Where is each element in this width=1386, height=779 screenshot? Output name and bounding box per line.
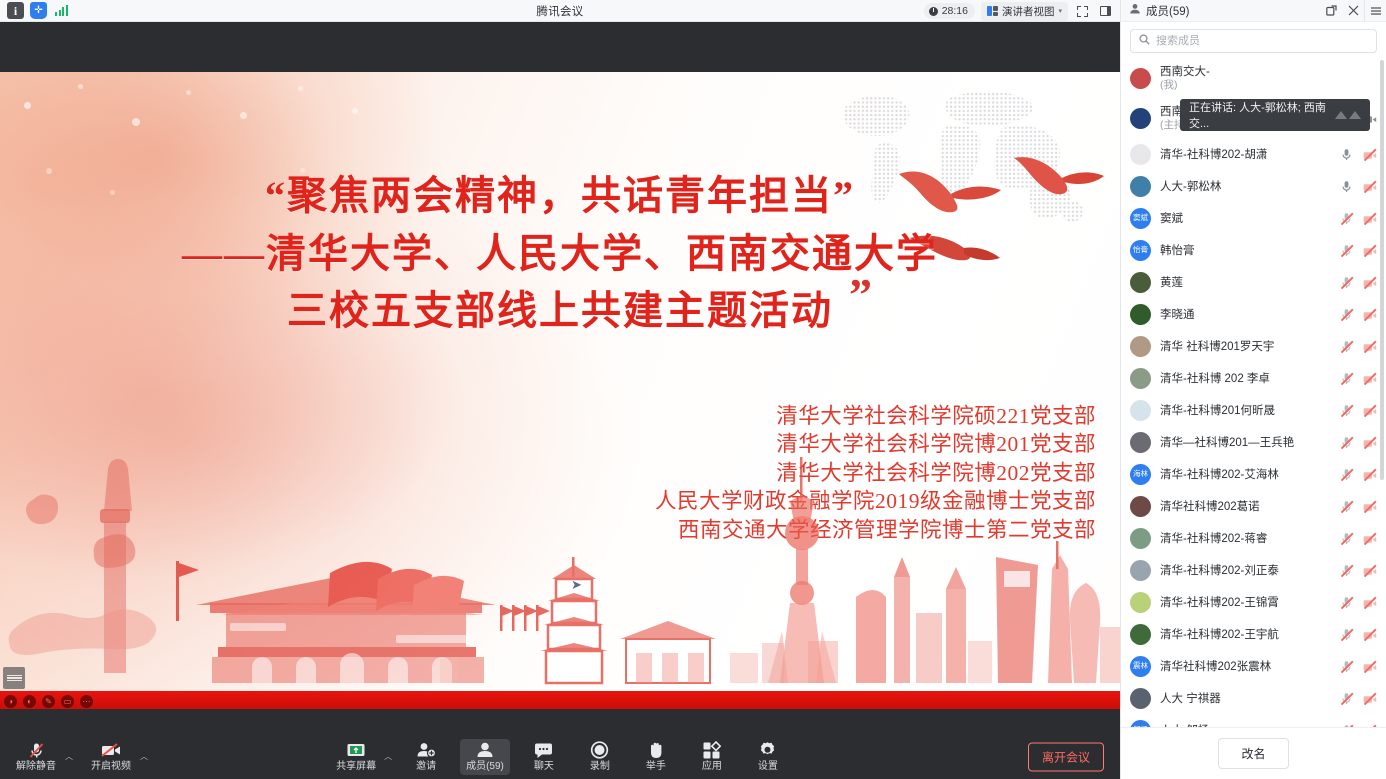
view-mode-label: 演讲者视图 (1002, 4, 1055, 19)
avatar (1130, 304, 1151, 325)
participants-icon (1129, 2, 1141, 20)
avatar: 邹杨 (1130, 720, 1151, 728)
expand-icon (1077, 6, 1088, 17)
list-item[interactable]: 人大-郭松林 (1121, 170, 1386, 202)
invite-user-icon (416, 741, 436, 760)
participant-name: 黄莲 (1160, 274, 1183, 290)
toolbar-center-group: 共享屏幕 ︿ 邀请 (0, 739, 1120, 775)
microphone-status-icon (1340, 468, 1353, 481)
participants-panel: 成员(59) (1120, 0, 1386, 779)
microphone-status-icon (1340, 148, 1353, 161)
list-item[interactable]: 李晓通 (1121, 298, 1386, 330)
share-screen-label: 共享屏幕 (336, 762, 376, 772)
shared-slide: ” “聚焦两会精神，共话青年担当” ——清华大学、人民大学、西南交通大学 三校五… (0, 72, 1120, 709)
microphone-status-icon (1340, 564, 1353, 577)
chat-button[interactable]: 聊天 (522, 739, 566, 775)
camera-status-icon (1363, 660, 1376, 673)
fullscreen-button[interactable] (1074, 3, 1091, 20)
participant-name: 清华-社科博202-胡潇 (1160, 146, 1267, 162)
invite-label: 邀请 (416, 762, 436, 772)
raise-hand-icon (647, 741, 665, 760)
audio-wave-icon (1335, 111, 1361, 119)
participant-name: 清华-社科博 202 李卓 (1160, 370, 1270, 386)
list-item[interactable]: 清华-社科博202-胡潇 (1121, 138, 1386, 170)
apps-icon (702, 741, 721, 760)
list-item[interactable]: 清华-社科博202-王锦霄 (1121, 586, 1386, 618)
microphone-status-icon (1340, 532, 1353, 545)
meeting-toolbar: 解除静音 ︿ 开启视频 ︿ (0, 735, 1120, 779)
settings-gear-icon (758, 741, 777, 760)
microphone-status-icon (1340, 244, 1353, 257)
participant-name: 清华-社科博202-蒋睿 (1160, 530, 1267, 546)
list-item[interactable]: 黄莲 (1121, 266, 1386, 298)
menu-icon[interactable] (1364, 0, 1386, 22)
avatar (1130, 560, 1151, 581)
avatar (1130, 432, 1151, 453)
list-item[interactable]: 清华—社科博201—王兵艳 (1121, 426, 1386, 458)
list-item[interactable]: 清华-社科博201何昕晟 (1121, 394, 1386, 426)
search-input[interactable] (1156, 35, 1368, 47)
apps-button[interactable]: 应用 (690, 739, 734, 775)
participant-name: 清华 社科博201罗天宇 (1160, 338, 1274, 354)
avatar (1130, 400, 1151, 421)
speaking-now-text: 正在讲话: 人大-郭松林; 西南交... (1189, 99, 1329, 131)
raise-hand-button[interactable]: 举手 (634, 739, 678, 775)
participant-name: 清华-社科博202-王宇航 (1160, 626, 1279, 642)
invite-button[interactable]: 邀请 (404, 739, 448, 775)
avatar-initials: 震林 (1133, 662, 1148, 670)
microphone-status-icon (1340, 212, 1353, 225)
clock-icon (929, 7, 938, 16)
microphone-status-icon (1340, 500, 1353, 513)
mouse-cursor: ➤ (571, 578, 579, 590)
avatar: 窦斌 (1130, 208, 1151, 229)
microphone-status-icon (1340, 596, 1353, 609)
participants-icon (475, 741, 495, 760)
camera-status-icon (1363, 404, 1376, 417)
participant-name: 清华-社科博202-艾海林 (1160, 466, 1279, 482)
popout-icon[interactable] (1320, 0, 1342, 22)
participants-label: 成员(59) (466, 762, 504, 772)
participant-name: 清华-社科博202-王锦霄 (1160, 594, 1279, 610)
participant-name: 清华社科博202葛诺 (1160, 498, 1260, 514)
title-bar-right: 28:16 演讲者视图 ▾ (924, 0, 1120, 22)
annotation-shape-icon[interactable]: ▭ (61, 695, 74, 708)
record-icon (590, 741, 609, 760)
participant-name: 人大-郭松林 (1160, 178, 1221, 194)
participant-name: 人大 宁祺器 (1160, 690, 1221, 706)
city-skyline-illustration (0, 391, 1120, 691)
annotation-more-icon[interactable]: ⋯ (80, 695, 93, 708)
view-mode-selector[interactable]: 演讲者视图 ▾ (981, 2, 1068, 21)
camera-status-icon (1363, 628, 1376, 641)
avatar (1130, 624, 1151, 645)
avatar (1130, 272, 1151, 293)
participants-panel-title: 成员(59) (1146, 3, 1189, 19)
microphone-status-icon (1340, 372, 1353, 385)
list-item[interactable]: 邹杨 人大 邹杨 (1121, 714, 1386, 727)
share-options-chevron-icon[interactable]: ︿ (384, 751, 392, 762)
list-item[interactable]: 西南交大- (我) (1121, 58, 1386, 98)
list-item[interactable]: 清华-社科博202-蒋睿 (1121, 522, 1386, 554)
participant-name: 李晓通 (1160, 306, 1195, 322)
microphone-status-icon (1340, 404, 1353, 417)
participants-search-wrap (1121, 22, 1386, 58)
avatar-initials: 海林 (1133, 470, 1148, 478)
speaker-view-icon (987, 6, 998, 16)
camera-status-icon (1363, 244, 1376, 257)
annotation-forward-icon[interactable]: ◐ (23, 695, 36, 708)
camera-status-icon (1363, 532, 1376, 545)
participant-name: 西南交大- (1160, 63, 1376, 79)
list-item[interactable]: 清华社科博202葛诺 (1121, 490, 1386, 522)
scrollbar-thumb[interactable] (1380, 60, 1384, 480)
participant-name: 人大 邹杨 (1160, 722, 1209, 727)
microphone-status-icon (1340, 628, 1353, 641)
participant-name: 韩怡膏 (1160, 242, 1195, 258)
annotation-pen-icon[interactable]: ✎ (42, 695, 55, 708)
camera-status-icon (1363, 436, 1376, 449)
microphone-status-icon (1340, 308, 1353, 321)
annotation-back-icon[interactable]: ◑ (4, 695, 17, 708)
avatar (1130, 528, 1151, 549)
camera-status-icon (1363, 564, 1376, 577)
participant-name: 清华-社科博201何昕晟 (1160, 402, 1275, 418)
participant-name: 窦斌 (1160, 210, 1183, 226)
participants-list[interactable]: 正在讲话: 人大-郭松林; 西南交... 西南交大- (我) 西南交大-席悦 (… (1121, 58, 1386, 727)
annotation-toolbar[interactable]: ◑ ◐ ✎ ▭ ⋯ (4, 695, 93, 708)
participant-name: 清华社科博202张震林 (1160, 658, 1271, 674)
camera-status-icon (1363, 724, 1376, 728)
chat-label: 聊天 (534, 762, 554, 772)
settings-label: 设置 (758, 762, 778, 772)
slide-list-toggle-button[interactable] (3, 667, 25, 689)
avatar (1130, 68, 1151, 89)
close-icon[interactable] (1342, 0, 1364, 22)
avatar (1130, 368, 1151, 389)
camera-status-icon (1363, 500, 1376, 513)
participant-name: 清华-社科博202-刘正泰 (1160, 562, 1279, 578)
list-item[interactable]: 清华 社科博201罗天宇 (1121, 330, 1386, 362)
avatar (1130, 688, 1151, 709)
toggle-side-panel-button[interactable] (1097, 3, 1114, 20)
record-label: 录制 (590, 762, 610, 772)
avatar: 震林 (1130, 656, 1151, 677)
camera-status-icon (1363, 468, 1376, 481)
slide-bottom-red-band (0, 691, 1120, 709)
chat-icon (533, 741, 554, 760)
search-box[interactable] (1130, 29, 1377, 53)
camera-status-icon (1363, 180, 1376, 193)
slide-title-line-1: “聚焦两会精神，共话青年担当” (0, 168, 1120, 225)
list-item[interactable]: 震林 清华社科博202张震林 (1121, 650, 1386, 682)
participant-role: (我) (1160, 79, 1376, 92)
chevron-down-icon: ▾ (1058, 7, 1062, 15)
camera-status-icon (1363, 372, 1376, 385)
camera-status-icon (1363, 692, 1376, 705)
slide-title-line-2: ——清华大学、人民大学、西南交通大学 (0, 225, 1120, 283)
list-item[interactable]: 窦斌 窦斌 (1121, 202, 1386, 234)
share-screen-button[interactable]: 共享屏幕 (330, 739, 382, 775)
raise-hand-label: 举手 (646, 762, 666, 772)
microphone-status-icon (1340, 180, 1353, 193)
camera-status-icon (1363, 340, 1376, 353)
camera-status-icon (1363, 148, 1376, 161)
avatar (1130, 144, 1151, 165)
list-item[interactable]: 清华-社科博 202 李卓 (1121, 362, 1386, 394)
camera-status-icon (1363, 308, 1376, 321)
microphone-status-icon (1340, 340, 1353, 353)
list-item[interactable]: 海林 清华-社科博202-艾海林 (1121, 458, 1386, 490)
timer-value: 28:16 (942, 5, 968, 17)
speaking-now-tooltip: 正在讲话: 人大-郭松林; 西南交... (1180, 99, 1370, 131)
apps-label: 应用 (702, 762, 722, 772)
avatar: 怡膏 (1130, 240, 1151, 261)
list-item[interactable]: 清华-社科博202-刘正泰 (1121, 554, 1386, 586)
rename-button[interactable]: 改名 (1218, 738, 1288, 769)
microphone-status-icon (1340, 692, 1353, 705)
title-bar: i ✛ 腾讯会议 28:16 演讲者视图 ▾ (0, 0, 1120, 22)
avatar (1130, 108, 1151, 129)
avatar (1130, 496, 1151, 517)
panel-header-actions (1320, 0, 1386, 22)
avatar: 海林 (1130, 464, 1151, 485)
camera-status-icon (1363, 596, 1376, 609)
participants-button[interactable]: 成员(59) (460, 739, 510, 775)
avatar (1130, 176, 1151, 197)
microphone-status-icon (1340, 436, 1353, 449)
avatar-initials: 邹杨 (1133, 726, 1148, 727)
list-item[interactable]: 清华-社科博202-王宇航 (1121, 618, 1386, 650)
settings-button[interactable]: 设置 (746, 739, 790, 775)
microphone-status-icon (1340, 724, 1353, 728)
slide-title-line-3: 三校五支部线上共建主题活动 (0, 282, 1120, 340)
record-button[interactable]: 录制 (578, 739, 622, 775)
avatar-initials: 怡膏 (1133, 246, 1148, 254)
slide-title: “聚焦两会精神，共话青年担当” ——清华大学、人民大学、西南交通大学 三校五支部… (0, 168, 1120, 341)
side-panel-icon (1100, 6, 1111, 16)
list-item[interactable]: 怡膏 韩怡膏 (1121, 234, 1386, 266)
list-item[interactable]: 人大 宁祺器 (1121, 682, 1386, 714)
avatar (1130, 592, 1151, 613)
participants-panel-header: 成员(59) (1121, 0, 1386, 22)
participants-panel-footer: 改名 (1121, 727, 1386, 779)
avatar-initials: 窦斌 (1133, 214, 1148, 222)
search-icon (1139, 32, 1150, 50)
share-screen-icon (345, 741, 367, 760)
participant-name: 清华—社科博201—王兵艳 (1160, 434, 1294, 450)
video-stage: ” “聚焦两会精神，共话青年担当” ——清华大学、人民大学、西南交通大学 三校五… (0, 22, 1120, 735)
camera-status-icon (1363, 276, 1376, 289)
camera-status-icon (1363, 212, 1376, 225)
participants-scrollbar[interactable] (1381, 58, 1385, 727)
meeting-window: i ✛ 腾讯会议 28:16 演讲者视图 ▾ (0, 0, 1386, 779)
microphone-status-icon (1340, 660, 1353, 673)
microphone-status-icon (1340, 276, 1353, 289)
meeting-timer: 28:16 (924, 3, 975, 19)
avatar (1130, 336, 1151, 357)
leave-meeting-button[interactable]: 离开会议 (1028, 743, 1104, 772)
